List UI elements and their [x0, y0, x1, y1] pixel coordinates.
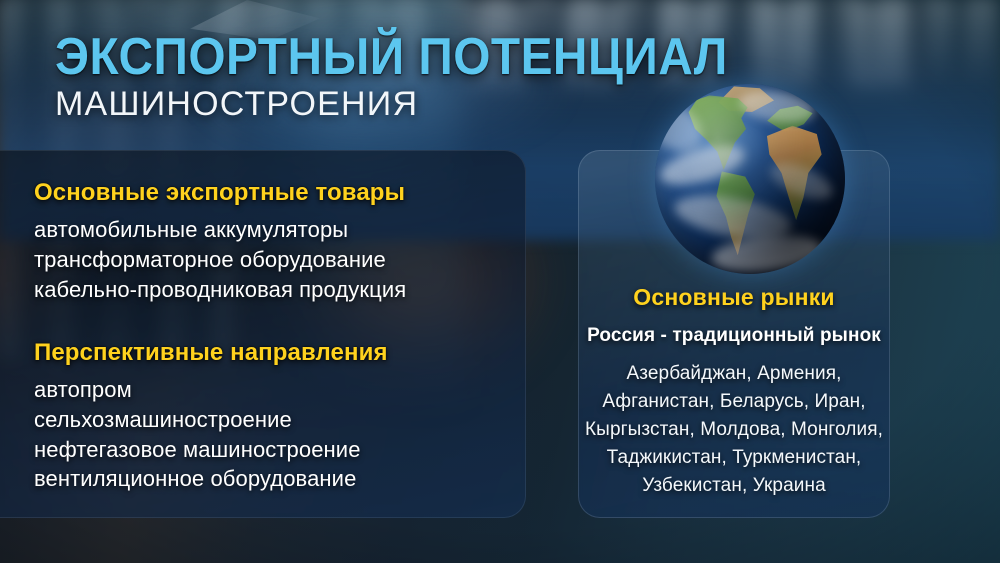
- right-panel-content: Основные рынки Россия - традиционный рын…: [578, 284, 890, 501]
- prospective-directions-heading: Перспективные направления: [34, 338, 534, 368]
- list-item: Афганистан, Беларусь, Иран,: [578, 388, 890, 416]
- list-item: трансформаторное оборудование: [34, 245, 534, 275]
- slide-root: ЭКСПОРТНЫЙ ПОТЕНЦИАЛ МАШИНОСТРОЕНИЯ Осно…: [0, 0, 1000, 563]
- list-item: нефтегазовое машиностроение: [34, 435, 534, 465]
- list-item: кабельно-проводниковая продукция: [34, 275, 534, 305]
- list-item: автопром: [34, 375, 534, 405]
- list-item: Кыргызстан, Молдова, Монголия,: [578, 416, 890, 444]
- earth-globe-icon: [655, 84, 845, 274]
- globe-sphere: [655, 84, 845, 274]
- markets-subheading: Россия - традиционный рынок: [578, 325, 890, 347]
- export-goods-heading: Основные экспортные товары: [34, 178, 534, 208]
- list-item: Узбекистан, Украина: [578, 472, 890, 500]
- left-panel-content: Основные экспортные товары автомобильные…: [34, 178, 534, 494]
- section-divider: [34, 305, 534, 338]
- markets-country-list: Азербайджан, Армения, Афганистан, Белару…: [578, 360, 890, 501]
- list-item: вентиляционное оборудование: [34, 464, 534, 494]
- markets-heading: Основные рынки: [578, 284, 890, 311]
- list-item: автомобильные аккумуляторы: [34, 215, 534, 245]
- list-item: Таджикистан, Туркменистан,: [578, 444, 890, 472]
- page-title: ЭКСПОРТНЫЙ ПОТЕНЦИАЛ: [55, 32, 728, 83]
- list-item: сельхозмашиностроение: [34, 405, 534, 435]
- export-goods-list: автомобильные аккумуляторы трансформатор…: [34, 215, 534, 305]
- prospective-directions-list: автопром сельхозмашиностроение нефтегазо…: [34, 375, 534, 495]
- list-item: Азербайджан, Армения,: [578, 360, 890, 388]
- globe-shading: [655, 84, 845, 274]
